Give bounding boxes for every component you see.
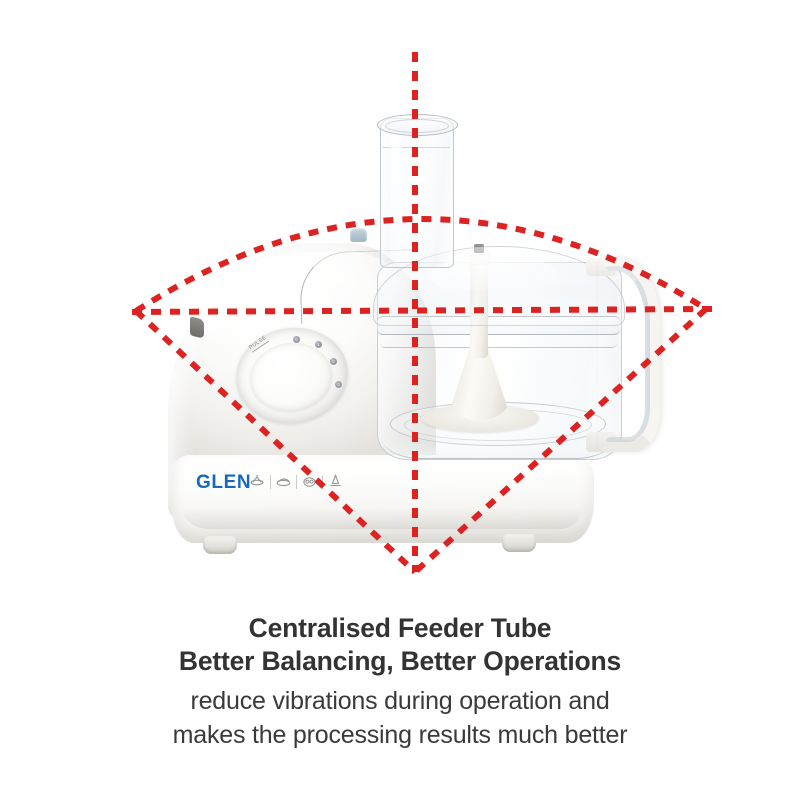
bowl-bottom-edge (381, 432, 615, 459)
caption-headline-1: Centralised Feeder Tube (0, 612, 800, 645)
icon-divider-1 (270, 475, 271, 489)
product-photo: PULSE 0 1 2 3 (0, 0, 800, 600)
dial-mark-0: 0 (293, 336, 300, 343)
lid-lock-tab[interactable] (350, 228, 367, 242)
chopping-blade-icon (301, 473, 318, 490)
attachment-icon-strip (249, 473, 344, 490)
caption-headline-2: Better Balancing, Better Operations (0, 645, 800, 678)
bowl-handle-inner (604, 266, 650, 442)
slicing-disc-icon (275, 473, 292, 490)
base-plinth (172, 455, 594, 543)
caption-body-2: makes the processing results much better (0, 718, 800, 752)
icon-divider-2 (296, 475, 297, 489)
feeder-tube (380, 118, 454, 268)
bowl-rim-lower (380, 338, 617, 348)
vent-slot-icon (190, 316, 204, 338)
product-feature-image: PULSE 0 1 2 3 (0, 0, 800, 800)
juicer-cone-icon (327, 473, 344, 490)
rubber-foot-left (203, 536, 237, 554)
whisk-attachment-icon (249, 473, 266, 490)
caption-body-1: reduce vibrations during operation and (0, 684, 800, 718)
brand-logo: GLEN (196, 472, 251, 494)
feeder-tube-band (382, 147, 450, 148)
dial-mark-3: 3 (335, 381, 342, 388)
feeder-tube-rim-inner (385, 119, 449, 133)
dial-mark-1: 1 (315, 341, 322, 348)
dial-mark-2: 2 (330, 358, 337, 365)
caption-block: Centralised Feeder Tube Better Balancing… (0, 600, 800, 752)
icon-divider-3 (322, 475, 323, 489)
rubber-foot-right (502, 534, 536, 552)
